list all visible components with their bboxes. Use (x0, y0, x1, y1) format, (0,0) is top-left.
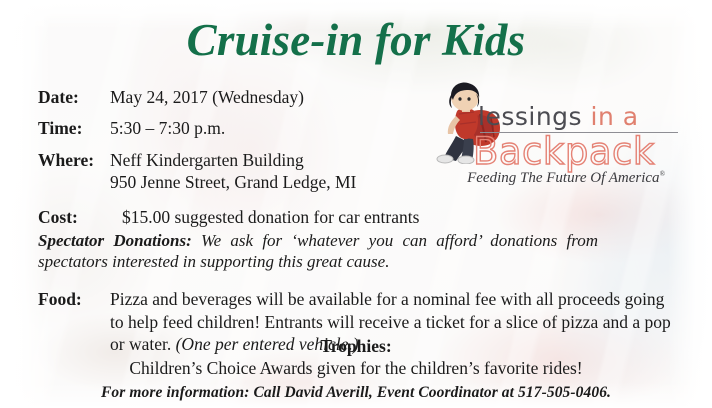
logo-tagline: Feeding The Future Of America® (446, 170, 686, 187)
logo-tagline-text: Feeding The Future Of America (467, 170, 659, 186)
where-label: Where: (38, 149, 110, 171)
registered-trademark-icon: ® (660, 170, 665, 178)
flyer-canvas: Cruise-in for Kids Date: May 24, 2017 (W… (0, 0, 712, 408)
time-label: Time: (38, 117, 110, 139)
logo-line-blessings-in-a: lessings in a (478, 102, 639, 131)
trophies-heading: Trophies: (0, 336, 712, 357)
flyer-content: Cruise-in for Kids Date: May 24, 2017 (W… (0, 0, 712, 408)
trophies-subtext: Children’s Choice Awards given for the c… (0, 357, 712, 380)
cost-value: $15.00 suggested donation for car entran… (110, 206, 678, 228)
logo-text-in-a: in a (582, 102, 639, 131)
blessings-in-a-backpack-logo: lessings in a Backpack Feeding The Futur… (434, 80, 686, 192)
spectator-donations-lead: Spectator Donations: (38, 231, 192, 250)
date-label: Date: (38, 86, 110, 108)
detail-row-cost: Cost: $15.00 suggested donation for car … (38, 206, 678, 228)
flyer-title: Cruise-in for Kids (0, 17, 712, 64)
trophies-block: Trophies: Children’s Choice Awards given… (0, 336, 712, 380)
logo-text-lessings: lessings (478, 102, 582, 131)
logo-text-backpack: Backpack (473, 130, 655, 173)
spectator-donations-paragraph: Spectator Donations: We ask for ‘whateve… (38, 230, 598, 272)
contact-footer: For more information: Call David Averill… (0, 384, 712, 402)
where-value-line1: Neff Kindergarten Building (110, 150, 304, 170)
cost-label: Cost: (38, 206, 110, 228)
food-label: Food: (38, 288, 110, 310)
